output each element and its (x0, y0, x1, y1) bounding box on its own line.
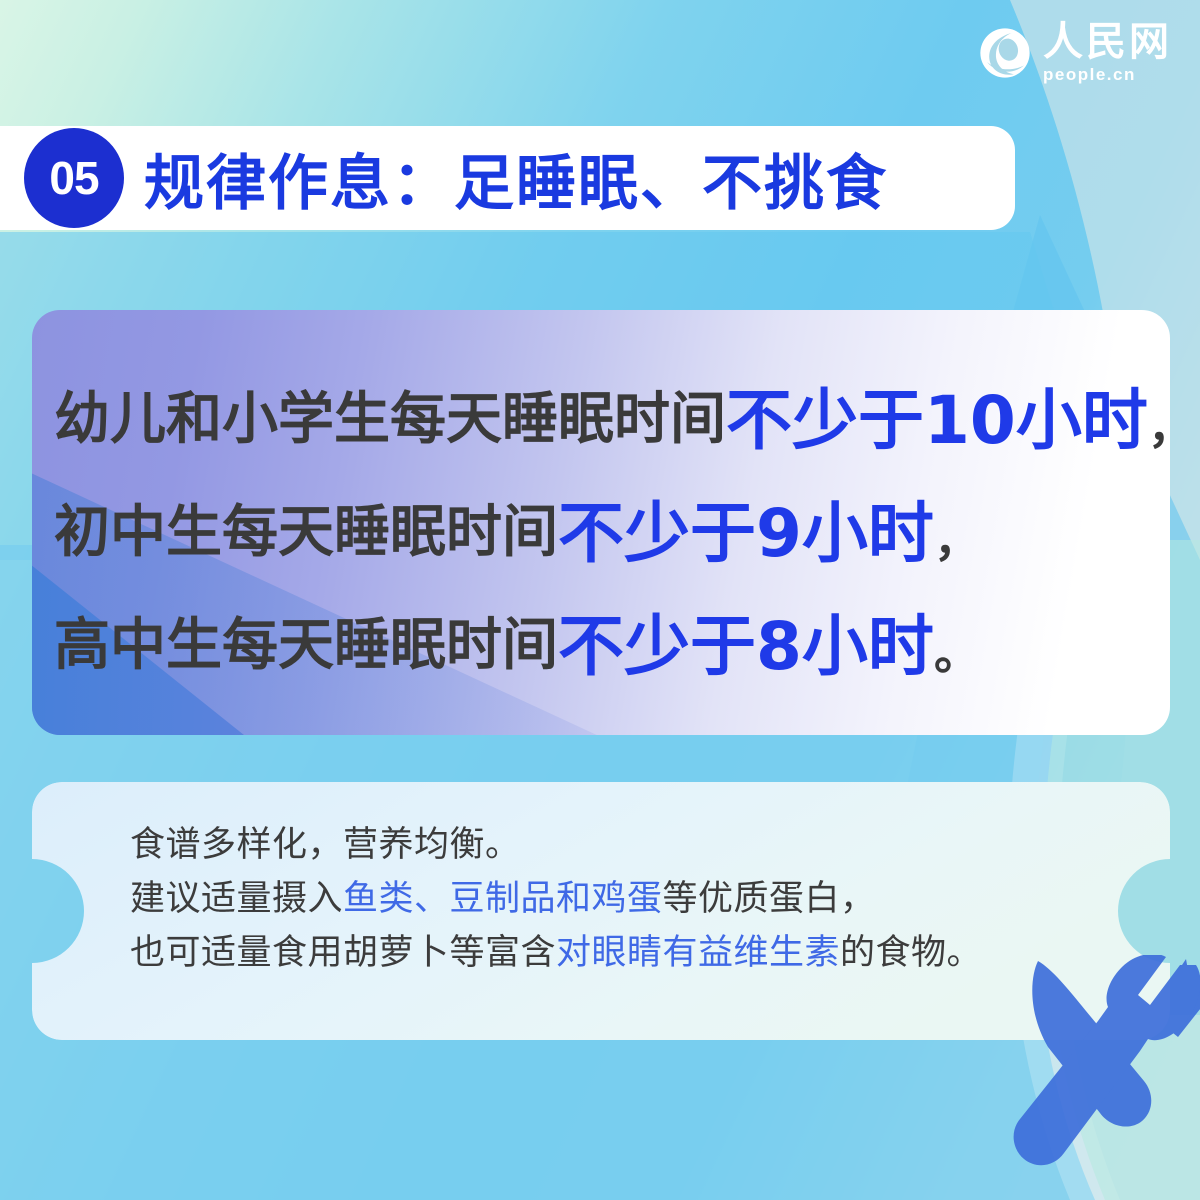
brand-name-en: people.cn (1043, 66, 1136, 83)
diet-line-3-suffix: 的食物。 (840, 933, 982, 973)
people-cn-moon-logo-icon (977, 25, 1033, 81)
diet-line-2: 建议适量摄入鱼类、豆制品和鸡蛋等优质蛋白， (130, 872, 1100, 926)
step-number-badge: 05 (24, 128, 124, 228)
brand-logo: 人民网 people.cn (977, 22, 1172, 83)
sleep-line-plain: 高中生每天睡眠时间 (54, 600, 558, 681)
sleep-line-punct: 。 (934, 617, 980, 697)
diet-line-3-prefix: 也可适量食用胡萝卜等富含 (130, 933, 556, 973)
diet-line-1: 食谱多样化，营养均衡。 (130, 818, 1100, 872)
sleep-guidance-card: 幼儿和小学生每天睡眠时间 不少于10小时 ， 初中生每天睡眠时间 不少于9小时 … (32, 310, 1170, 735)
diet-line-3: 也可适量食用胡萝卜等富含对眼睛有益维生素的食物。 (130, 926, 1100, 980)
brand-logo-text: 人民网 people.cn (1043, 22, 1172, 83)
sleep-line-punct: ， (934, 504, 980, 584)
header-bar: 规律作息：足睡眠、不挑食 (0, 126, 1015, 230)
sleep-line: 初中生每天睡眠时间 不少于9小时 ， (54, 471, 1170, 584)
diet-line-2-suffix: 等优质蛋白， (663, 879, 876, 919)
sleep-line-highlight: 不少于8小时 (558, 593, 934, 689)
knife-and-fork-icon (990, 955, 1200, 1200)
sleep-line-highlight: 不少于10小时 (726, 367, 1148, 463)
sleep-line: 高中生每天睡眠时间 不少于8小时 。 (54, 584, 1170, 697)
diet-guidance-text: 食谱多样化，营养均衡。 建议适量摄入鱼类、豆制品和鸡蛋等优质蛋白， 也可适量食用… (130, 818, 1100, 980)
diet-line-3-highlight: 对眼睛有益维生素 (556, 933, 840, 973)
brand-name-cn: 人民网 (1043, 22, 1172, 62)
diet-line-2-highlight: 鱼类、豆制品和鸡蛋 (343, 879, 663, 919)
sleep-line-plain: 幼儿和小学生每天睡眠时间 (54, 374, 726, 455)
sleep-guidance-lines: 幼儿和小学生每天睡眠时间 不少于10小时 ， 初中生每天睡眠时间 不少于9小时 … (32, 310, 1170, 735)
diet-line-1-text: 食谱多样化，营养均衡。 (130, 825, 521, 865)
diet-line-2-prefix: 建议适量摄入 (130, 879, 343, 919)
sleep-line-plain: 初中生每天睡眠时间 (54, 487, 558, 568)
sleep-line-punct: ， (1148, 391, 1170, 471)
infographic-poster: 人民网 people.cn 规律作息：足睡眠、不挑食 05 幼儿和小学生每天睡眠… (0, 0, 1200, 1200)
sleep-line-highlight: 不少于9小时 (558, 480, 934, 576)
sleep-line: 幼儿和小学生每天睡眠时间 不少于10小时 ， (54, 358, 1170, 471)
page-title: 规律作息：足睡眠、不挑食 (144, 135, 888, 222)
